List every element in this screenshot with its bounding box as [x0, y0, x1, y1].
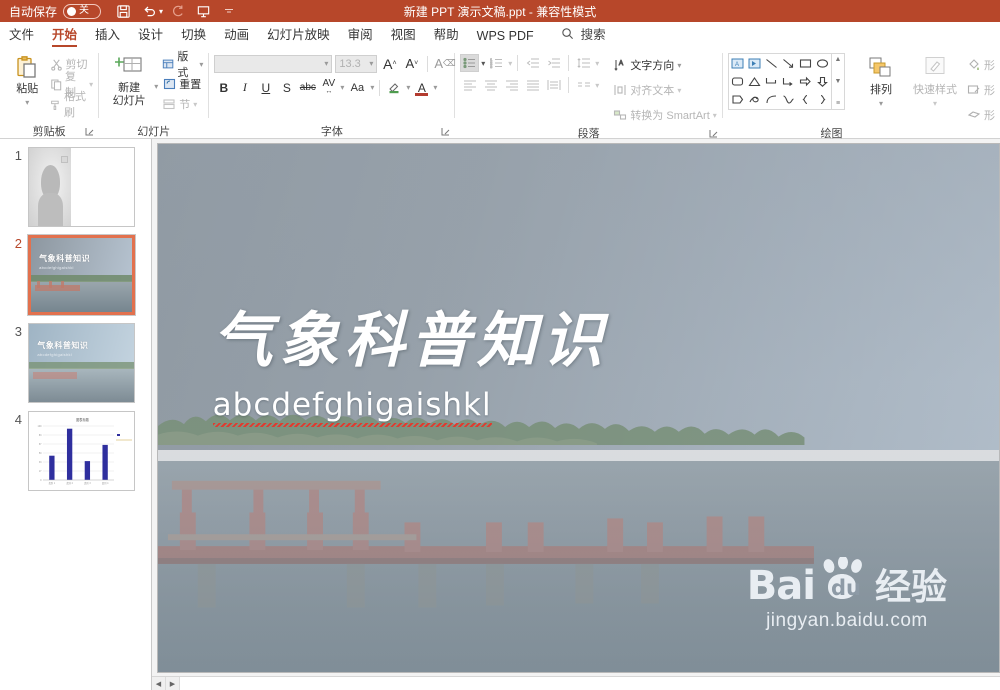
thumbnail-number-2: 2 — [6, 235, 22, 250]
undo-dropdown-icon[interactable]: ▾ — [159, 7, 163, 16]
tab-design[interactable]: 设计 — [129, 24, 172, 48]
thumbnail-2-photo — [31, 238, 132, 312]
thumbnail-1-photo — [29, 148, 71, 226]
bold-button[interactable]: B — [214, 78, 233, 97]
thumbnail-number-1: 1 — [6, 147, 22, 162]
distribute-icon — [547, 79, 561, 91]
format-painter-icon — [50, 98, 61, 111]
svg-text:83: 83 — [39, 434, 42, 437]
italic-button[interactable]: I — [235, 78, 254, 97]
thumbnail-2-subtitle: abcdefghigaishkl — [39, 265, 74, 270]
shape-effects-icon — [967, 108, 981, 122]
thumbnail-3-title: 气象科普知识 — [37, 340, 88, 351]
quick-styles-label: 快速样式 — [913, 84, 957, 97]
paragraph-dialog-launcher-icon[interactable] — [709, 129, 718, 138]
text-highlight-dropdown-icon[interactable]: ▾ — [406, 83, 410, 92]
character-spacing-label: AV — [323, 80, 336, 88]
shape-textbox-icon[interactable]: A — [731, 58, 744, 69]
quick-styles-dropdown-icon[interactable]: ▾ — [933, 97, 937, 110]
grow-font-button[interactable]: A˄ — [380, 54, 399, 73]
justify-icon — [526, 79, 540, 91]
columns-button[interactable] — [574, 76, 593, 94]
thumbnail-4[interactable]: 图表标题10083675033170类别 1类别 2类别 3类别 4 — [28, 411, 135, 491]
baidu-watermark-brand: Bai — [747, 566, 815, 606]
underline-button[interactable]: U — [256, 78, 275, 97]
new-slide-button[interactable]: 新建 幻灯片 — [104, 52, 154, 108]
tab-help[interactable]: 帮助 — [425, 24, 468, 48]
copy-icon — [50, 78, 62, 91]
thumbnail-item-2[interactable]: 2 气象科普知识 abcdefghigaishkl — [0, 227, 151, 315]
tab-review[interactable]: 审阅 — [339, 24, 382, 48]
tab-insert[interactable]: 插入 — [86, 24, 129, 48]
layout-dropdown-icon[interactable]: ▾ — [199, 60, 203, 69]
text-direction-icon: A — [613, 58, 627, 72]
shape-elbow-connector-icon[interactable] — [765, 76, 778, 87]
numbering-icon: 123 — [490, 57, 503, 69]
redo-icon[interactable] — [165, 1, 189, 21]
arrange-icon — [867, 56, 895, 82]
svg-text:类别 2: 类别 2 — [66, 481, 73, 485]
tab-transitions[interactable]: 切换 — [172, 24, 215, 48]
font-size-input[interactable]: 13.3 ▾ — [335, 55, 377, 73]
layout-icon — [162, 57, 174, 71]
svg-text:du: du — [831, 576, 861, 600]
shape-arrow-icon[interactable] — [782, 58, 795, 69]
svg-text:0: 0 — [40, 479, 42, 482]
slide-subtitle-misspelled: abcdefghigaishkl — [213, 387, 492, 425]
quick-styles-button[interactable]: 快速样式 ▾ — [907, 53, 963, 125]
font-size-value: 13.3 — [339, 58, 360, 70]
convert-to-smartart-button[interactable]: 转换为 SmartArt ▾ — [613, 105, 716, 125]
divider — [517, 55, 518, 71]
font-group-label-row: 字体 — [209, 123, 454, 138]
reset-icon — [162, 77, 176, 91]
divider — [379, 80, 380, 96]
line-spacing-icon — [577, 57, 591, 69]
columns-icon — [577, 79, 591, 91]
shape-outline-button[interactable]: 形 — [967, 80, 995, 100]
svg-text:17: 17 — [39, 470, 42, 473]
shapes-scroll-up-icon[interactable]: ▲ — [835, 56, 842, 63]
scroll-right-icon[interactable]: ▶ — [166, 677, 180, 690]
new-slide-icon — [115, 55, 143, 80]
highlight-icon — [387, 80, 402, 95]
autosave-toggle[interactable]: 关 — [63, 4, 101, 19]
slide-editing-stage: 气象科普知识 abcdefghigaishkl Bai du 经验 jing — [152, 139, 1000, 690]
distribute-button[interactable] — [544, 76, 563, 94]
thumbnail-item-1[interactable]: 1 — [0, 139, 151, 227]
layout-button[interactable]: 版式 ▾ — [162, 54, 203, 74]
arrange-dropdown-icon[interactable]: ▾ — [879, 97, 883, 110]
svg-text:类别 1: 类别 1 — [49, 481, 56, 485]
search-box[interactable]: 搜索 — [561, 24, 606, 48]
shape-arc-icon[interactable] — [765, 94, 778, 105]
svg-text:3: 3 — [490, 64, 493, 69]
drawing-group-label-row: 绘图 — [723, 125, 1000, 140]
smartart-icon — [613, 108, 627, 122]
shape-right-arrow-icon[interactable] — [799, 76, 812, 87]
font-dialog-launcher-icon[interactable] — [441, 127, 450, 136]
character-spacing-dropdown-icon[interactable]: ▾ — [340, 83, 344, 92]
paragraph-group-label-row: 段落 — [455, 125, 722, 140]
text-direction-button[interactable]: A 文字方向 ▾ — [613, 55, 716, 75]
ribbon-group-drawing: A — [723, 48, 1000, 138]
shapes-more-icon[interactable]: ≡ — [836, 100, 840, 107]
shape-outline-label: 形 — [984, 82, 995, 98]
character-spacing-button[interactable]: AV ↔ — [319, 78, 338, 97]
numbering-button[interactable]: 123 — [487, 54, 506, 72]
svg-text:33: 33 — [39, 461, 42, 464]
bullets-button[interactable] — [460, 54, 479, 72]
slide-subtitle-text[interactable]: abcdefghigaishkl — [213, 387, 492, 425]
columns-dropdown-icon[interactable]: ▾ — [595, 81, 599, 90]
thumbnail-2[interactable]: 气象科普知识 abcdefghigaishkl — [28, 235, 135, 315]
format-painter-label: 格式刷 — [64, 88, 93, 120]
new-slide-label-1: 新建 — [118, 82, 140, 95]
shape-oval-icon[interactable] — [816, 58, 829, 69]
slide-title-text[interactable]: 气象科普知识 — [213, 292, 609, 379]
shape-fill-icon — [967, 58, 981, 72]
autosave-control[interactable]: 自动保存 关 — [9, 3, 101, 20]
font-name-input[interactable]: ▾ — [214, 55, 332, 73]
paste-button[interactable]: 粘贴 ▾ — [5, 52, 50, 109]
text-direction-dropdown-icon[interactable]: ▾ — [677, 61, 681, 70]
shape-triangle-icon[interactable] — [748, 76, 761, 87]
format-painter-button[interactable]: 格式刷 — [50, 94, 94, 114]
align-text-icon — [613, 83, 627, 97]
align-text-label: 对齐文本 — [630, 82, 674, 98]
align-left-button[interactable] — [460, 76, 479, 94]
section-label: 节 — [179, 96, 190, 112]
thumbnail-1-blank — [71, 148, 134, 226]
strikethrough-button[interactable]: abc — [298, 78, 317, 97]
smartart-label: 转换为 SmartArt — [630, 107, 709, 123]
thumbnail-number-3: 3 — [6, 323, 22, 338]
svg-text:67: 67 — [39, 443, 42, 446]
font-name-dropdown-icon[interactable]: ▾ — [324, 59, 328, 68]
tab-animations[interactable]: 动画 — [215, 24, 258, 48]
shape-effects-label: 形 — [984, 107, 995, 123]
thumbnail-3-photo — [29, 324, 134, 402]
align-left-icon — [463, 79, 477, 91]
shapes-gallery[interactable]: A — [728, 53, 832, 110]
paste-icon — [14, 55, 40, 81]
arrange-label: 排列 — [870, 84, 892, 97]
tab-view[interactable]: 视图 — [382, 24, 425, 48]
reset-label: 重置 — [179, 76, 201, 92]
divider — [568, 77, 569, 93]
divider — [427, 56, 428, 72]
ribbon-group-font: ▾ 13.3 ▾ A˄ A˅ A⌫ B I U S abc AV — [209, 48, 454, 138]
section-dropdown-icon[interactable]: ▾ — [193, 100, 197, 109]
thumbnail-item-3[interactable]: 3 气象科普知识 abcdefghigaishkl — [0, 315, 151, 403]
svg-text:图表标题: 图表标题 — [76, 417, 90, 422]
clipboard-group-label-row: 剪贴板 — [0, 123, 98, 138]
new-slide-label-2: 幻灯片 — [113, 95, 146, 108]
customize-qat-icon[interactable] — [217, 1, 241, 21]
autosave-state-label: 关 — [79, 6, 89, 16]
slide-pier — [158, 461, 814, 619]
save-icon[interactable] — [111, 1, 135, 21]
baidu-watermark-url: jingyan.baidu.com — [747, 610, 947, 632]
svg-text:A: A — [735, 62, 739, 68]
paste-label: 粘贴 — [16, 83, 38, 96]
tab-wps-pdf[interactable]: WPS PDF — [468, 29, 543, 48]
baidu-watermark: Bai du 经验 jingyan.baidu.com — [747, 557, 947, 632]
tab-home[interactable]: 开始 — [43, 24, 86, 48]
ribbon-group-clipboard: 粘贴 ▾ 剪切 复制 ▾ — [0, 48, 98, 138]
text-shadow-button[interactable]: S — [277, 78, 296, 97]
change-case-dropdown-icon[interactable]: ▾ — [370, 83, 374, 92]
justify-button[interactable] — [523, 76, 542, 94]
decrease-indent-button[interactable] — [523, 54, 542, 72]
bullets-icon — [463, 57, 476, 69]
shapes-gallery-scrollbar[interactable]: ▲ ▼ ≡ — [832, 53, 845, 110]
cut-icon — [50, 58, 63, 71]
font-color-button[interactable]: A — [412, 78, 431, 97]
current-slide[interactable]: 气象科普知识 abcdefghigaishkl Bai du 经验 jing — [157, 143, 1000, 673]
clipboard-small-buttons: 剪切 复制 ▾ 格式刷 — [50, 52, 94, 114]
start-presentation-icon[interactable] — [191, 1, 215, 21]
section-button[interactable]: 节 ▾ — [162, 94, 203, 114]
shrink-font-button[interactable]: A˅ — [402, 54, 421, 73]
slides-group-label: 幻灯片 — [137, 123, 170, 139]
line-spacing-button[interactable] — [574, 54, 593, 72]
svg-text:50: 50 — [39, 452, 42, 455]
tab-slideshow[interactable]: 幻灯片放映 — [258, 24, 339, 48]
clipboard-dialog-launcher-icon[interactable] — [85, 127, 94, 136]
baidu-paw-icon: du — [818, 557, 872, 606]
shape-outline-icon — [967, 83, 981, 97]
font-size-dropdown-icon[interactable]: ▾ — [369, 59, 373, 68]
align-right-icon — [505, 79, 519, 91]
new-slide-dropdown-icon[interactable]: ▾ — [154, 82, 158, 91]
clipboard-group-label: 剪贴板 — [33, 123, 66, 139]
horizontal-scrollbar[interactable]: ◀ ▶ — [152, 676, 1000, 690]
autosave-label: 自动保存 — [9, 3, 57, 20]
paste-dropdown-icon[interactable]: ▾ — [25, 96, 29, 109]
section-icon — [162, 97, 176, 111]
horizontal-scroll-track[interactable] — [180, 677, 1000, 690]
title-bar: 新建 PPT 演示文稿.ppt - 兼容性模式 自动保存 关 ▾ — [0, 0, 1000, 22]
shape-vertical-textbox-icon[interactable] — [748, 58, 761, 69]
align-center-icon — [484, 79, 498, 91]
ribbon-group-slides: 新建 幻灯片 ▾ 版式 ▾ 重置 — [99, 48, 208, 138]
svg-text:100: 100 — [38, 425, 43, 428]
align-center-button[interactable] — [481, 76, 500, 94]
baidu-watermark-cn: 经验 — [875, 570, 947, 606]
shape-fill-label: 形 — [984, 57, 995, 73]
increase-indent-icon — [547, 57, 561, 69]
thumbnail-2-title: 气象科普知识 — [39, 253, 90, 264]
shape-pentagon-icon[interactable] — [731, 94, 744, 105]
shape-scribble-icon[interactable] — [748, 94, 761, 105]
text-direction-label: 文字方向 — [630, 57, 674, 73]
shape-left-brace-icon[interactable] — [799, 94, 812, 105]
shape-down-arrow-icon[interactable] — [816, 76, 829, 87]
shape-curve-icon[interactable] — [782, 94, 795, 105]
ribbon-tabs[interactable]: 文件 开始 插入 设计 切换 动画 幻灯片放映 审阅 视图 帮助 WPS PDF… — [0, 22, 1000, 48]
shapes-scroll-down-icon[interactable]: ▼ — [835, 78, 842, 85]
baidu-watermark-logo-row: Bai du 经验 — [747, 557, 947, 606]
line-spacing-dropdown-icon[interactable]: ▾ — [595, 59, 599, 68]
change-case-button[interactable]: Aa — [346, 78, 368, 97]
arrange-button[interactable]: 排列 ▾ — [855, 53, 907, 125]
svg-text:类别 4: 类别 4 — [102, 481, 109, 485]
align-right-button[interactable] — [502, 76, 521, 94]
svg-text:A: A — [619, 61, 623, 67]
quick-access-toolbar[interactable]: ▾ — [111, 1, 241, 21]
quick-styles-icon — [920, 56, 950, 82]
shape-fill-button[interactable]: 形 — [967, 55, 995, 75]
decrease-indent-icon — [526, 57, 540, 69]
shape-line-icon[interactable] — [765, 58, 778, 69]
thumbnail-number-4: 4 — [6, 411, 22, 426]
bullets-dropdown-icon[interactable]: ▾ — [481, 59, 485, 68]
paw-print-icon: du — [818, 557, 872, 601]
font-group-label: 字体 — [321, 123, 343, 139]
scroll-left-icon[interactable]: ◀ — [152, 677, 166, 690]
font-color-dropdown-icon[interactable]: ▾ — [433, 83, 437, 92]
slides-group-label-row: 幻灯片 — [99, 123, 208, 138]
numbering-dropdown-icon[interactable]: ▾ — [508, 59, 512, 68]
thumbnail-3-subtitle: abcdefghigaishkl — [37, 352, 72, 357]
smartart-dropdown-icon[interactable]: ▾ — [713, 111, 717, 120]
search-label: 搜索 — [581, 24, 606, 43]
align-text-dropdown-icon[interactable]: ▾ — [677, 86, 681, 95]
shape-rounded-rect-icon[interactable] — [731, 76, 744, 87]
autosave-toggle-knob — [67, 7, 76, 16]
divider — [568, 55, 569, 71]
thumbnail-4-chart: 图表标题10083675033170类别 1类别 2类别 3类别 4 — [29, 412, 134, 490]
reset-button[interactable]: 重置 — [162, 74, 203, 94]
thumbnail-1[interactable] — [28, 147, 135, 227]
shape-rectangle-icon[interactable] — [799, 58, 812, 69]
shape-right-brace-icon[interactable] — [816, 94, 829, 105]
align-text-button[interactable]: 对齐文本 ▾ — [613, 80, 716, 100]
thumbnail-3[interactable]: 气象科普知识 abcdefghigaishkl — [28, 323, 135, 403]
shape-elbow-arrow-icon[interactable] — [782, 76, 795, 87]
ribbon: 粘贴 ▾ 剪切 复制 ▾ — [0, 48, 1000, 139]
shape-effects-button[interactable]: 形 — [967, 105, 995, 125]
slide-thumbnail-panel[interactable]: 1 2 气象科普知识 abcdefghigaishkl — [0, 139, 152, 690]
tab-file[interactable]: 文件 — [0, 24, 43, 48]
ribbon-group-paragraph: ▾ 123 ▾ — [455, 48, 722, 138]
svg-text:类别 3: 类别 3 — [84, 481, 91, 485]
increase-indent-button[interactable] — [544, 54, 563, 72]
undo-icon[interactable] — [137, 1, 161, 21]
text-highlight-button[interactable] — [385, 78, 404, 97]
clear-formatting-button[interactable]: A⌫ — [434, 54, 455, 73]
thumbnail-item-4[interactable]: 4 图表标题10083675033170类别 1类别 2类别 3类别 4 — [0, 403, 151, 491]
search-icon — [561, 27, 574, 40]
